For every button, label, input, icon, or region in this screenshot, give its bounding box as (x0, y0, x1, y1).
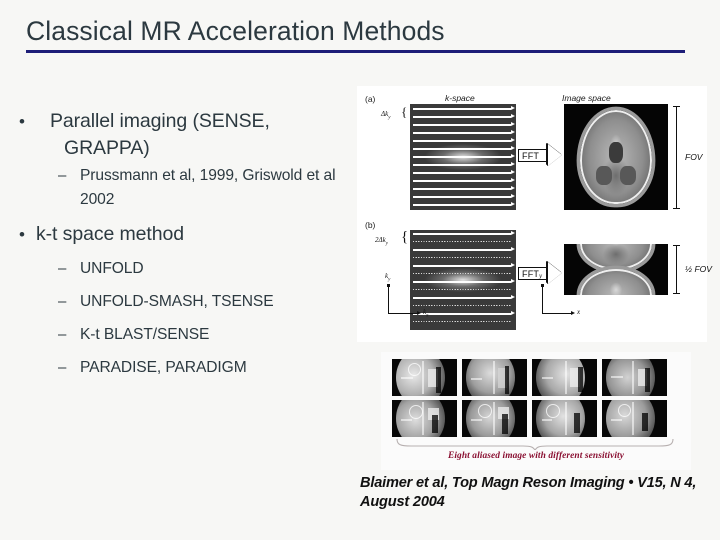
kspace-column-heading: k-space (445, 93, 475, 103)
aliased-images-figure: Eight aliased image with different sensi… (381, 352, 691, 470)
list-item: – PARADISE, PARADIGM (58, 356, 354, 380)
dash-marker: – (58, 290, 80, 314)
list-item: – K-t BLAST/SENSE (58, 323, 354, 347)
brain-anatomy (580, 110, 652, 204)
dash-marker: – (58, 164, 80, 188)
aliased-tile (532, 400, 597, 437)
bullet-text: PARADISE, PARADIGM (80, 356, 247, 380)
brain-wrap-top (580, 244, 652, 270)
aliased-tile (462, 400, 527, 437)
y-axis-line (542, 286, 543, 314)
bullet-marker: • (14, 221, 36, 248)
aliased-image-grid (392, 359, 667, 437)
bullet-text: Prussmann et al, 1999, Griswold et al 20… (80, 164, 342, 212)
slide-canvas: Classical MR Acceleration Methods • Para… (0, 0, 720, 540)
panel-a-tag: (a) (365, 94, 375, 104)
delta-k-subscript: y (388, 115, 390, 120)
x-axis-line (542, 313, 572, 314)
aliased-tile (462, 359, 527, 396)
aliased-tile (532, 359, 597, 396)
dash-marker: – (58, 257, 80, 281)
list-item: • Parallel imaging (SENSE, GRAPPA) (14, 108, 354, 162)
fov-label-a: FOV (685, 152, 702, 162)
brain-wrap-bottom (580, 269, 652, 295)
page-title: Classical MR Acceleration Methods (26, 14, 686, 48)
fft-label: FFT (522, 151, 539, 161)
fft-label: FFT (522, 269, 539, 279)
list-item: – UNFOLD (58, 257, 354, 281)
bullet-text: Parallel imaging (SENSE, GRAPPA) (50, 108, 354, 162)
list-item: – Prussmann et al, 1999, Griswold et al … (58, 164, 354, 212)
brace-icon: { (401, 104, 407, 120)
fft-arrow-a: FFT (518, 144, 562, 167)
brace-icon: { (401, 229, 408, 246)
bullet-text: K-t BLAST/SENSE (80, 323, 209, 347)
dash-marker: – (58, 356, 80, 380)
title-block: Classical MR Acceleration Methods (26, 14, 686, 62)
x-axis-arrowhead (571, 311, 575, 315)
bullet-marker: • (14, 108, 36, 135)
image-space-aliased-b (564, 244, 668, 295)
title-underline-rule (26, 50, 685, 53)
aliased-tile (602, 400, 667, 437)
source-citation: Blaimer et al, Top Magn Reson Imaging • … (360, 474, 700, 512)
two-delta-k-label: 2Δk (375, 236, 386, 244)
figure-panel-a: (a) k-space Image space Δky { (357, 90, 707, 214)
kspace-grid-a (410, 104, 516, 210)
two-delta-k-subscript: y (386, 241, 388, 246)
list-item: – UNFOLD-SMASH, TSENSE (58, 290, 354, 314)
kx-axis-line (388, 313, 418, 314)
dash-marker: – (58, 323, 80, 347)
aliased-tile (392, 400, 457, 437)
aliased-images-caption: Eight aliased image with different sensi… (381, 451, 691, 461)
kspace-figure: (a) k-space Image space Δky { (357, 86, 707, 342)
grid-brace-icon (395, 438, 675, 450)
fov-bracket-a (676, 106, 677, 208)
bullet-text: k-t space method (36, 221, 184, 248)
aliased-tile (602, 359, 667, 396)
imagespace-column-heading: Image space (562, 93, 611, 103)
fov-label-b: ½ FOV (685, 264, 712, 274)
x-axis-label: x (577, 308, 580, 316)
image-space-brain-a (564, 104, 668, 210)
ky-axis-line (388, 286, 389, 314)
bullet-text: UNFOLD-SMASH, TSENSE (80, 290, 274, 314)
figure-panel-b: (b) 2Δky { (357, 216, 707, 342)
bullet-text: UNFOLD (80, 257, 144, 281)
aliased-tile (392, 359, 457, 396)
y-axis-label: y (539, 272, 542, 280)
bullet-list: • Parallel imaging (SENSE, GRAPPA) – Pru… (14, 108, 354, 381)
list-item: • k-t space method (14, 221, 354, 248)
fov-bracket-b (676, 245, 677, 294)
panel-b-tag: (b) (365, 220, 375, 230)
kx-axis-arrowhead (417, 311, 421, 315)
